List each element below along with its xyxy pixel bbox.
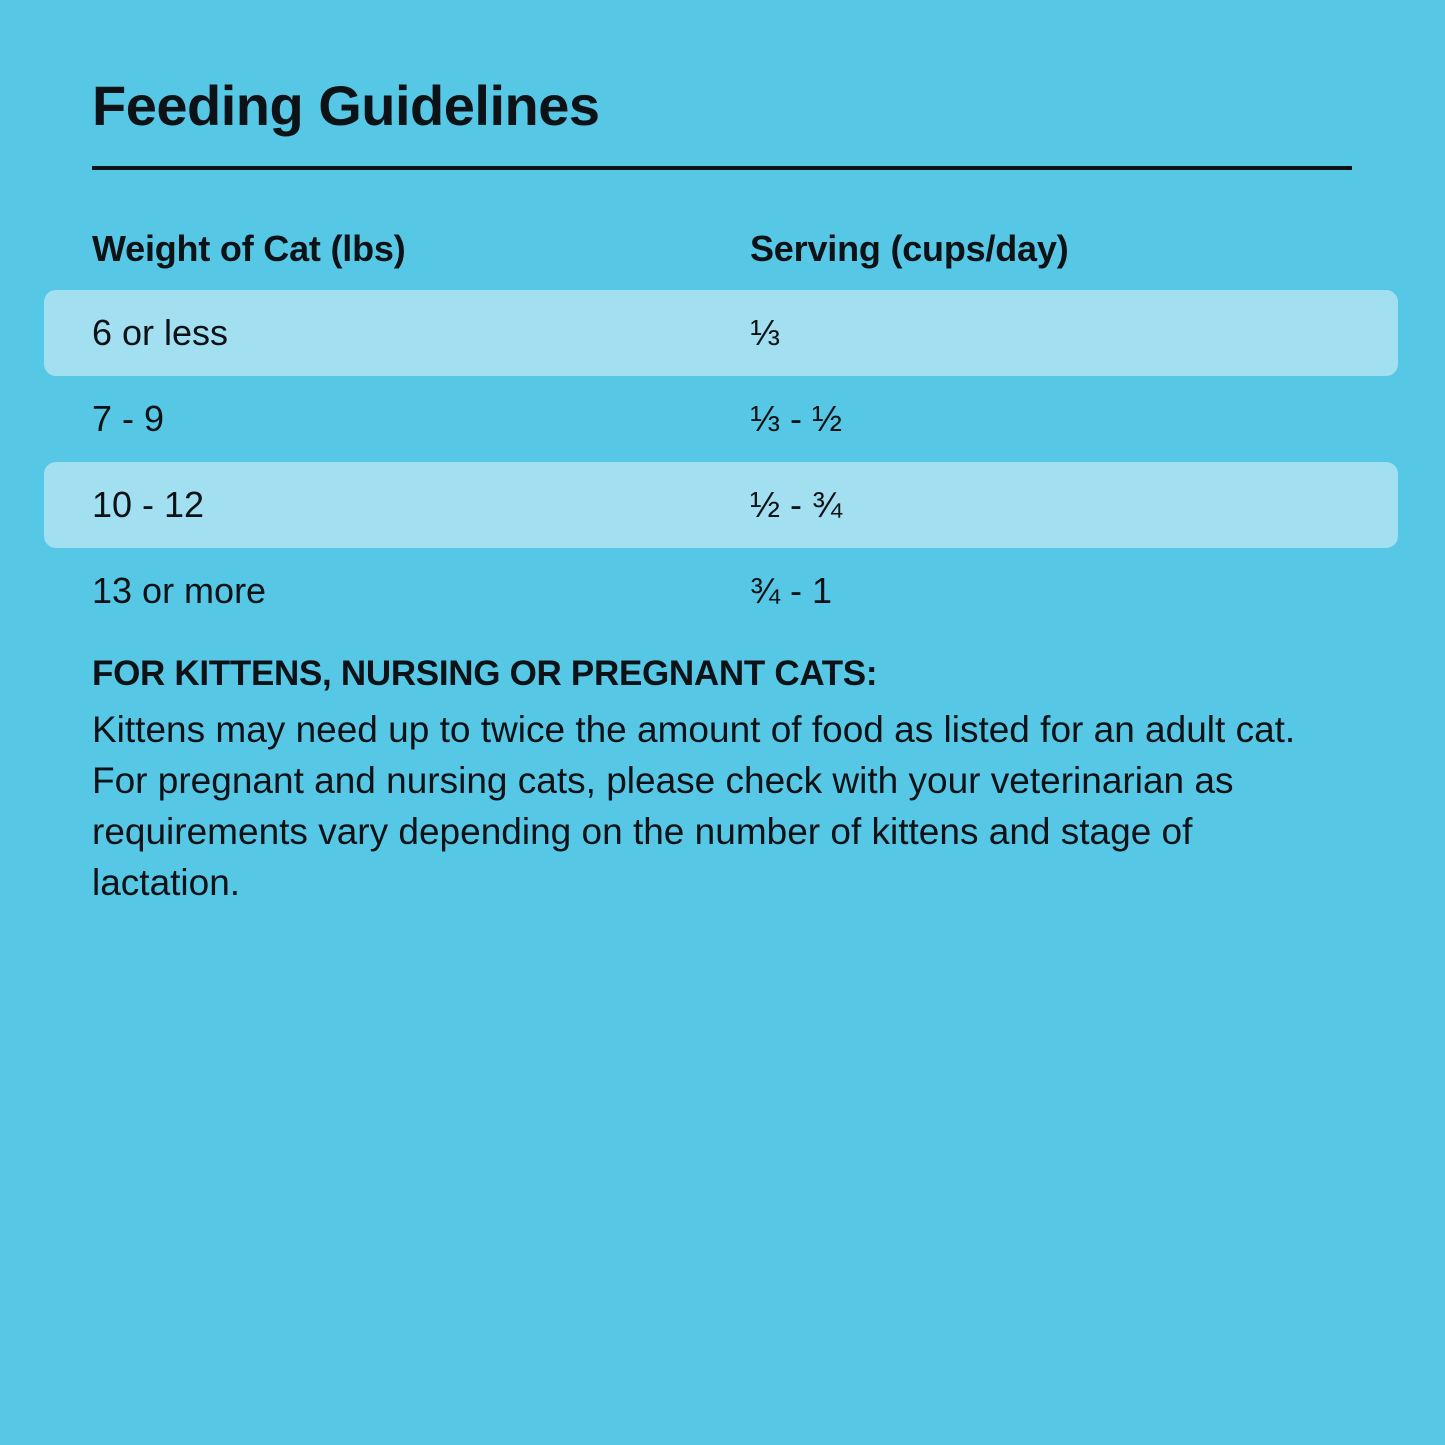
page-title: Feeding Guidelines: [92, 78, 600, 134]
kitten-note-body: Kittens may need up to twice the amount …: [92, 704, 1297, 908]
table-header-row: Weight of Cat (lbs) Serving (cups/day): [0, 208, 1445, 290]
table-row: 10 - 12 ½ - ¾: [0, 462, 1445, 548]
cell-serving: ¾ - 1: [750, 548, 832, 634]
cell-weight: 6 or less: [92, 290, 228, 376]
cell-serving: ⅓: [750, 290, 780, 376]
cell-weight: 10 - 12: [92, 462, 204, 548]
column-header-serving: Serving (cups/day): [750, 208, 1068, 290]
cell-serving: ⅓ - ½: [750, 376, 842, 462]
table-row: 13 or more ¾ - 1: [0, 548, 1445, 634]
cell-weight: 7 - 9: [92, 376, 164, 462]
feeding-table: Weight of Cat (lbs) Serving (cups/day) 6…: [0, 208, 1445, 634]
table-row: 6 or less ⅓: [0, 290, 1445, 376]
cell-weight: 13 or more: [92, 548, 266, 634]
feeding-guidelines-panel: Feeding Guidelines Weight of Cat (lbs) S…: [0, 0, 1445, 1445]
kitten-note-heading: FOR KITTENS, NURSING OR PREGNANT CATS:: [92, 655, 1297, 694]
table-row: 7 - 9 ⅓ - ½: [0, 376, 1445, 462]
kitten-note: FOR KITTENS, NURSING OR PREGNANT CATS: K…: [92, 655, 1297, 908]
column-header-weight: Weight of Cat (lbs): [92, 208, 406, 290]
title-divider: [92, 166, 1352, 170]
cell-serving: ½ - ¾: [750, 462, 842, 548]
